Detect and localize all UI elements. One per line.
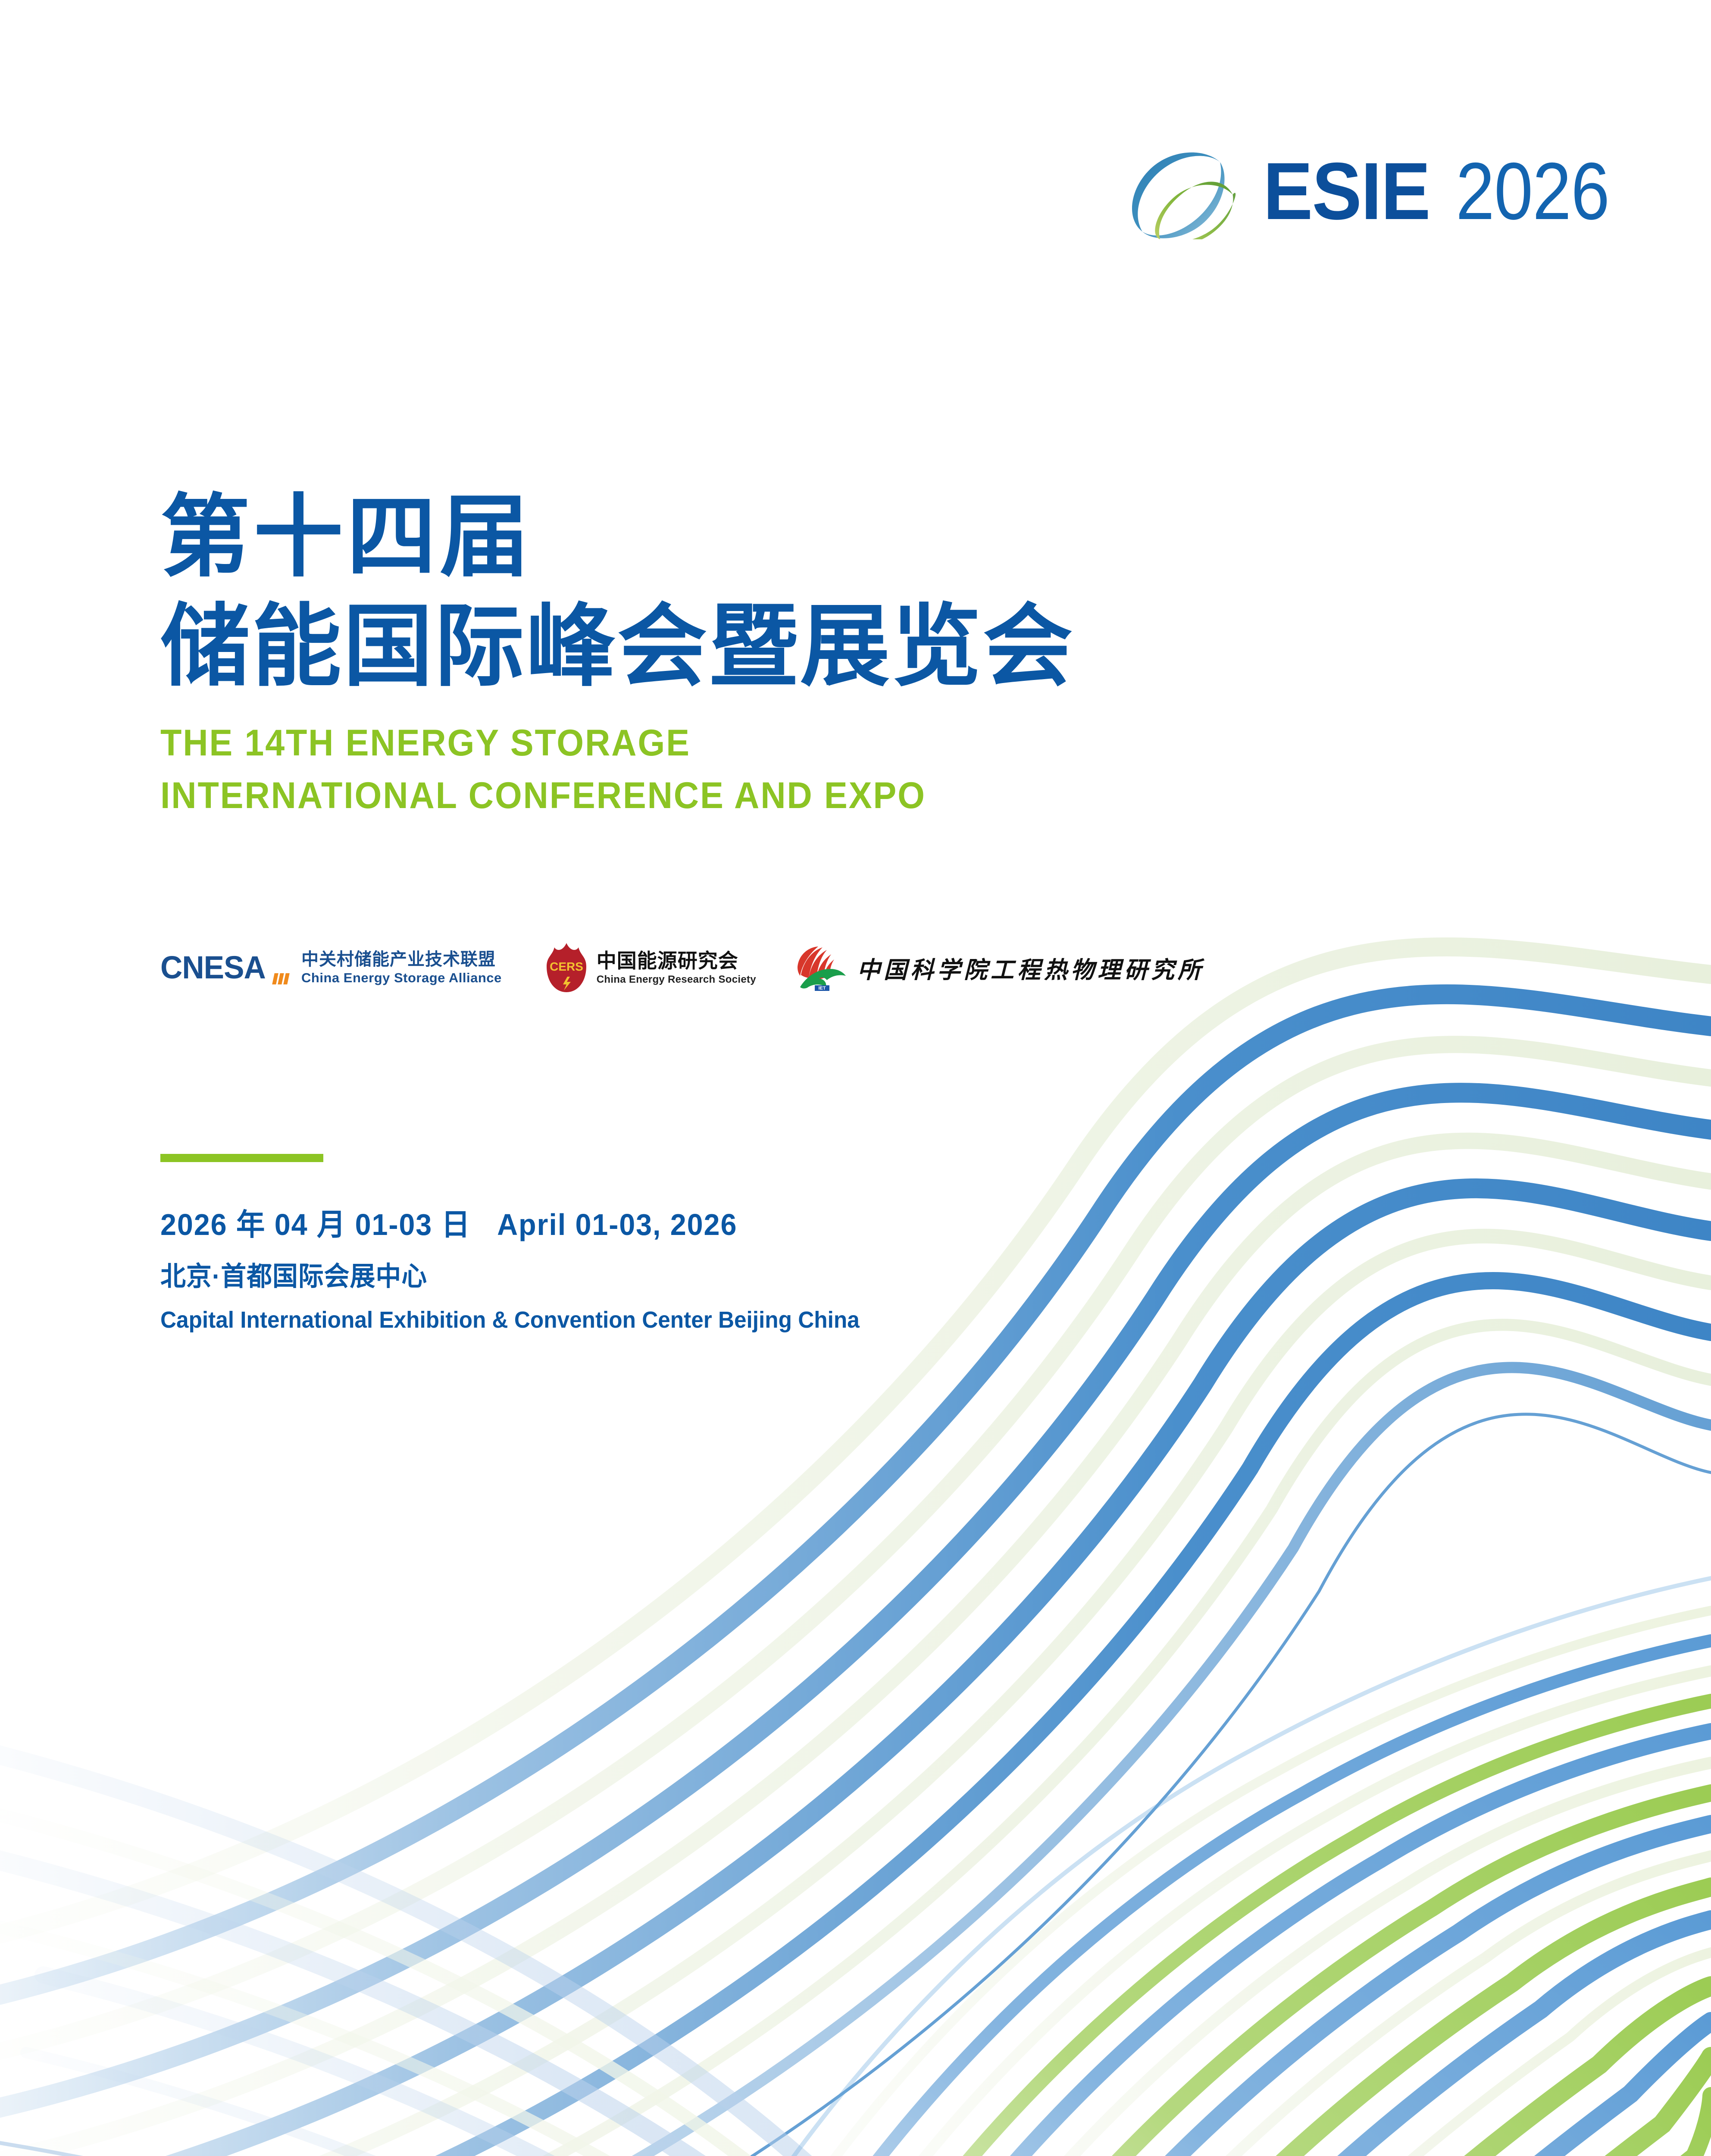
organizer-logo-row: CNESA 中关村储能产业技术联盟 China Energy Storage A… [160, 942, 1204, 993]
cnesa-name-cn: 中关村储能产业技术联盟 [301, 949, 502, 970]
title-english-line-1: THE 14TH ENERGY STORAGE [160, 717, 1020, 769]
event-venue-en: Capital International Exhibition & Conve… [160, 1307, 860, 1333]
event-details-block: 2026 年 04 月 01-03 日 April 01-03, 2026 北京… [160, 1207, 896, 1333]
title-block: 第十四届 储能国际峰会暨展览会 THE 14TH ENERGY STORAGE … [160, 483, 1074, 822]
event-venue-cn: 北京·首都国际会展中心 [160, 1261, 860, 1292]
title-english-line-2: INTERNATIONAL CONFERENCE AND EXPO [160, 769, 1020, 822]
cnesa-name-en: China Energy Storage Alliance [301, 970, 502, 987]
cnesa-bars-icon [273, 973, 288, 984]
organizer-logo-cers: CERS 中国能源研究会 China Energy Research Socie… [543, 942, 756, 993]
title-chinese-line-2: 储能国际峰会暨展览会 [160, 592, 1074, 702]
title-english: THE 14TH ENERGY STORAGE INTERNATIONAL CO… [160, 717, 1020, 822]
esie-brand-logo: ESIE 2026 [1119, 142, 1634, 239]
iet-globe-leaf-icon: IET [794, 944, 851, 991]
green-accent-rule [160, 1154, 323, 1162]
esie-swirl-icon [1119, 142, 1248, 239]
organizer-logo-cnesa: CNESA 中关村储能产业技术联盟 China Energy Storage A… [160, 949, 502, 987]
iet-name-cn: 中国科学院工程热物理研究所 [857, 951, 1204, 985]
svg-text:CERS: CERS [550, 960, 583, 973]
title-chinese: 第十四届 储能国际峰会暨展览会 [160, 483, 1074, 702]
event-date-en: April 01-03, 2026 [497, 1208, 737, 1241]
esie-year: 2026 [1456, 150, 1609, 232]
event-date-cn: 2026 年 04 月 01-03 日 [160, 1208, 471, 1241]
decorative-wave-background [0, 0, 1711, 2156]
title-chinese-line-1: 第十四届 [160, 483, 1074, 592]
organizer-logo-iet-cas: IET 中国科学院工程热物理研究所 [794, 944, 1204, 991]
cers-name-cn: 中国能源研究会 [597, 949, 756, 973]
cers-name-en: China Energy Research Society [597, 973, 756, 986]
event-date-line: 2026 年 04 月 01-03 日 April 01-03, 2026 [160, 1207, 860, 1242]
esie-wordmark: ESIE [1263, 150, 1430, 232]
poster-canvas: ESIE 2026 第十四届 储能国际峰会暨展览会 THE 14TH ENERG… [0, 0, 1711, 2156]
cers-flame-icon: CERS [543, 942, 590, 993]
cnesa-wordmark: CNESA [160, 952, 266, 984]
svg-text:IET: IET [818, 986, 826, 991]
